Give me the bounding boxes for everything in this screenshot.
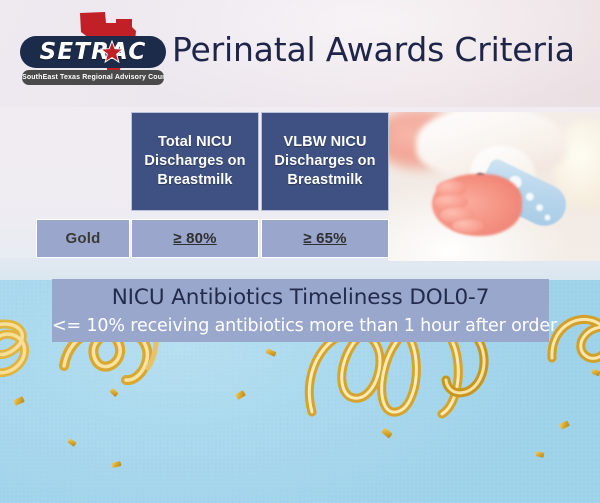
callout-headline: NICU Antibiotics Timeliness DOL0-7 (52, 283, 549, 313)
gold-ribbon-curl (0, 498, 68, 503)
setrac-logo: SETRAC SouthEast Texas Regional Advisory… (16, 10, 168, 85)
star-icon (100, 40, 124, 64)
header-line: Total NICU (158, 134, 232, 150)
callout-subtext: <= 10% receiving antibiotics more than 1… (52, 313, 549, 339)
table-cell-value: ≥ 65% (303, 230, 346, 247)
table-header-vlbw-nicu: VLBW NICU Discharges on Breastmilk (261, 112, 389, 211)
table-cell-gold-total-nicu: ≥ 80% (131, 219, 259, 258)
header-line: Discharges on (274, 153, 375, 169)
page-title: Perinatal Awards Criteria (172, 26, 584, 74)
header-line: VLBW NICU (283, 134, 366, 150)
table-section-footer-strip (0, 258, 600, 280)
poster-canvas: SETRAC SouthEast Texas Regional Advisory… (0, 0, 600, 503)
photo-overlay (388, 112, 600, 261)
header-line: Breastmilk (157, 172, 232, 188)
table-cell-gold-vlbw-nicu: ≥ 65% (261, 219, 389, 258)
logo-tagline: SouthEast Texas Regional Advisory Counci… (22, 70, 164, 85)
newborn-hand-photo (388, 112, 600, 261)
table-row-label-gold: Gold (36, 219, 130, 258)
logo-wordmark: SETRAC (20, 36, 166, 68)
header-line: Discharges on (144, 153, 245, 169)
table-header-total-nicu: Total NICU Discharges on Breastmilk (131, 112, 259, 211)
header-line: Breastmilk (287, 172, 362, 188)
antibiotics-callout-box: NICU Antibiotics Timeliness DOL0-7 <= 10… (52, 279, 549, 342)
table-cell-value: ≥ 80% (173, 230, 216, 247)
